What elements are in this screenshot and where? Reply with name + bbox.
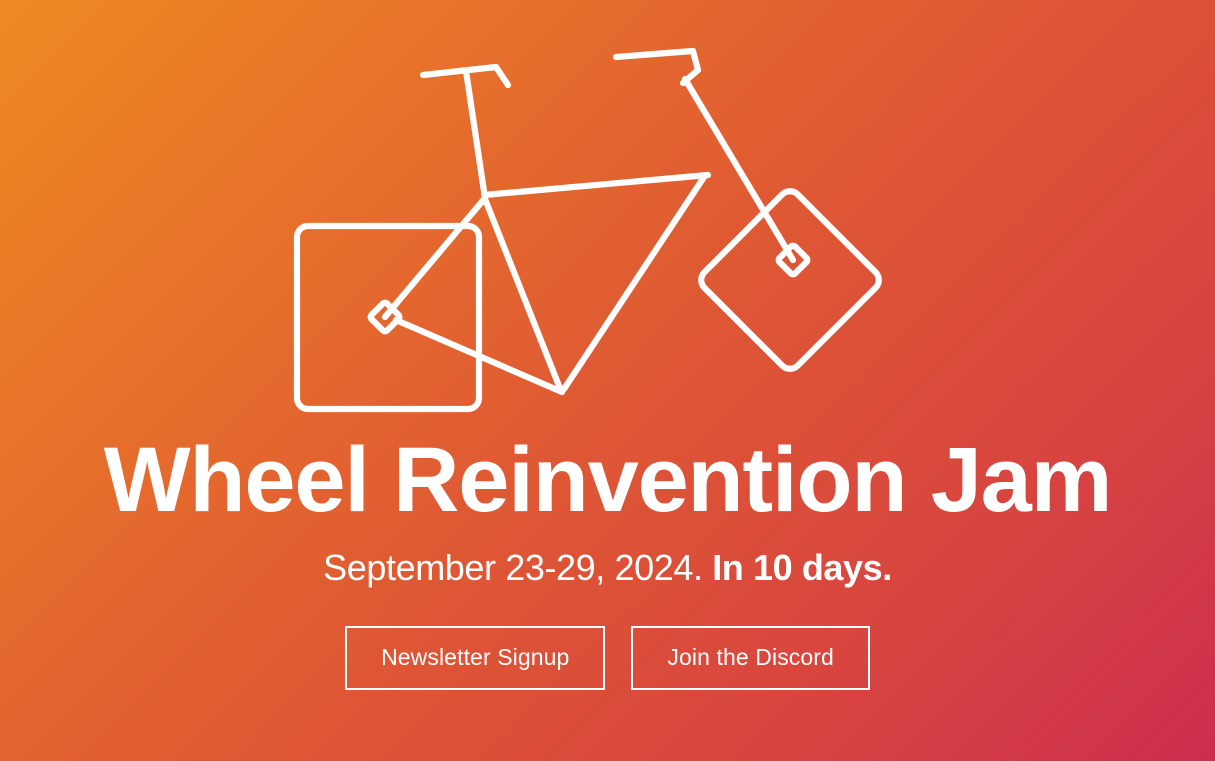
square-wheel-bicycle-logo bbox=[268, 22, 948, 422]
event-dates: September 23-29, 2024. bbox=[323, 547, 702, 588]
hero-section: Wheel Reinvention Jam September 23-29, 2… bbox=[0, 0, 1215, 761]
seat-tube bbox=[685, 79, 793, 260]
top-tube bbox=[484, 175, 708, 195]
newsletter-signup-button[interactable]: Newsletter Signup bbox=[345, 626, 605, 690]
front-fork bbox=[385, 71, 485, 317]
rear-square-wheel bbox=[696, 187, 883, 374]
down-tube bbox=[564, 177, 704, 389]
event-dates-line: September 23-29, 2024. In 10 days. bbox=[323, 548, 892, 588]
page-title: Wheel Reinvention Jam bbox=[104, 434, 1111, 526]
event-countdown: In 10 days. bbox=[712, 547, 892, 588]
cta-button-row: Newsletter Signup Join the Discord bbox=[345, 626, 870, 690]
bicycle-illustration bbox=[268, 22, 948, 422]
join-discord-button[interactable]: Join the Discord bbox=[631, 626, 870, 690]
